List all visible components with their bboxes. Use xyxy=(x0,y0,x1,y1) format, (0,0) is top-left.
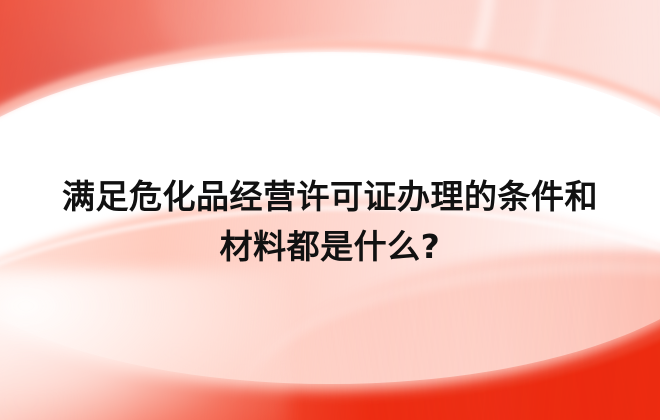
title-slide: 满足危化品经营许可证办理的条件和 材料都是什么? xyxy=(0,0,660,420)
bottom-left-fade xyxy=(0,270,290,420)
page-title: 满足危化品经营许可证办理的条件和 材料都是什么? xyxy=(0,172,660,272)
page-title-line-1: 满足危化品经营许可证办理的条件和 xyxy=(0,172,660,222)
page-title-line-2: 材料都是什么? xyxy=(0,222,660,272)
